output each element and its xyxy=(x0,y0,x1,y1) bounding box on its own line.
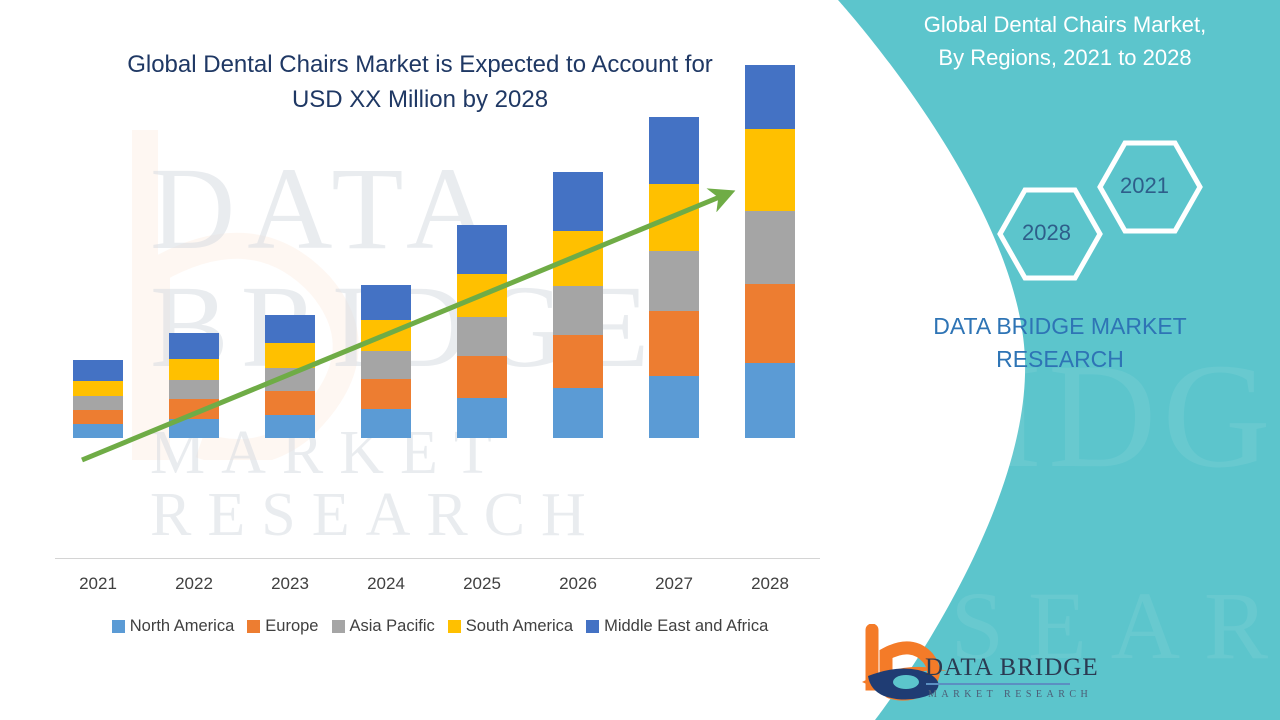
bar-segment xyxy=(265,415,315,438)
bar-segment xyxy=(457,356,507,398)
bar-segment xyxy=(361,351,411,379)
bar-segment xyxy=(265,315,315,343)
bar-segment xyxy=(745,284,795,363)
x-axis-label-2027: 2027 xyxy=(634,574,714,594)
bar-2023 xyxy=(265,315,315,438)
bar-segment xyxy=(457,398,507,438)
legend-item-north-america[interactable]: North America xyxy=(112,617,235,636)
hexagon-group: 2021 2028 xyxy=(950,135,1250,295)
hexagon-shapes-icon xyxy=(950,135,1250,295)
legend-label: North America xyxy=(130,617,235,636)
panel-brand-line-2: RESEARCH xyxy=(875,343,1245,376)
bar-2027 xyxy=(649,117,699,438)
growth-trend-arrow-icon xyxy=(0,0,850,600)
bar-segment xyxy=(553,335,603,388)
x-axis-label-2026: 2026 xyxy=(538,574,618,594)
bar-segment xyxy=(73,410,123,424)
bar-segment xyxy=(169,380,219,399)
bar-segment xyxy=(361,409,411,438)
bar-segment xyxy=(745,363,795,438)
bar-2026 xyxy=(553,172,603,438)
legend-item-europe[interactable]: Europe xyxy=(247,617,318,636)
bar-segment xyxy=(457,317,507,356)
chart-plot-area: 20212022202320242025202620272028 xyxy=(0,0,850,600)
bar-segment xyxy=(265,368,315,391)
bar-2024 xyxy=(361,285,411,438)
bar-segment xyxy=(169,333,219,359)
x-axis-label-2028: 2028 xyxy=(730,574,810,594)
bar-segment xyxy=(553,231,603,286)
x-axis-line xyxy=(55,558,820,559)
bar-segment xyxy=(73,381,123,396)
legend-item-middle-east-and-africa[interactable]: Middle East and Africa xyxy=(586,617,768,636)
bar-segment xyxy=(361,285,411,320)
panel-brand-line-1: DATA BRIDGE MARKET xyxy=(875,310,1245,343)
x-axis-label-2025: 2025 xyxy=(442,574,522,594)
bar-2021 xyxy=(73,360,123,438)
bar-segment xyxy=(553,388,603,438)
bar-segment xyxy=(745,129,795,211)
bar-segment xyxy=(649,376,699,438)
legend-item-south-america[interactable]: South America xyxy=(448,617,573,636)
bar-segment xyxy=(361,320,411,351)
legend-item-asia-pacific[interactable]: Asia Pacific xyxy=(332,617,435,636)
legend-swatch-icon xyxy=(247,620,260,633)
logo-wordmark: DATA BRIDGE xyxy=(925,654,1099,682)
panel-title-line-2: By Regions, 2021 to 2028 xyxy=(860,41,1270,74)
panel-brand-name: DATA BRIDGE MARKET RESEARCH xyxy=(875,310,1245,375)
bar-segment xyxy=(73,360,123,381)
hexagon-label-2028: 2028 xyxy=(1022,220,1071,246)
legend-swatch-icon xyxy=(112,620,125,633)
panel-title: Global Dental Chairs Market, By Regions,… xyxy=(860,8,1270,74)
panel-title-line-1: Global Dental Chairs Market, xyxy=(860,8,1270,41)
x-axis-label-2021: 2021 xyxy=(58,574,138,594)
right-info-panel: BRIDGE RESEARCH Global Dental Chairs Mar… xyxy=(820,0,1280,720)
bar-segment xyxy=(649,251,699,311)
bar-segment xyxy=(265,343,315,368)
legend-label: Asia Pacific xyxy=(350,617,435,636)
slide-canvas: DATA BRIDGE MARKET RESEARCH Global Denta… xyxy=(0,0,1280,720)
bar-segment xyxy=(457,225,507,274)
legend-swatch-icon xyxy=(448,620,461,633)
bar-segment xyxy=(745,211,795,284)
bar-segment xyxy=(169,419,219,438)
bar-segment xyxy=(169,399,219,419)
x-axis-label-2023: 2023 xyxy=(250,574,330,594)
legend-swatch-icon xyxy=(586,620,599,633)
hexagon-label-2021: 2021 xyxy=(1120,173,1169,199)
legend-label: Middle East and Africa xyxy=(604,617,768,636)
bar-segment xyxy=(169,359,219,380)
x-axis-label-2022: 2022 xyxy=(154,574,234,594)
bar-segment xyxy=(457,274,507,317)
logo-tagline: MARKET RESEARCH xyxy=(928,689,1092,700)
chart-legend: North AmericaEuropeAsia PacificSouth Ame… xyxy=(55,617,825,636)
bar-segment xyxy=(553,172,603,231)
bar-segment xyxy=(73,396,123,410)
legend-label: South America xyxy=(466,617,573,636)
bar-2028 xyxy=(745,65,795,438)
bar-segment xyxy=(553,286,603,335)
legend-label: Europe xyxy=(265,617,318,636)
logo-divider xyxy=(926,683,1070,685)
bar-segment xyxy=(361,379,411,409)
bar-segment xyxy=(265,391,315,415)
bar-segment xyxy=(649,117,699,184)
bar-segment xyxy=(745,65,795,129)
bar-segment xyxy=(649,184,699,251)
bar-segment xyxy=(73,424,123,438)
legend-swatch-icon xyxy=(332,620,345,633)
x-axis-label-2024: 2024 xyxy=(346,574,426,594)
bar-2022 xyxy=(169,333,219,438)
bar-2025 xyxy=(457,225,507,438)
bar-segment xyxy=(649,311,699,376)
